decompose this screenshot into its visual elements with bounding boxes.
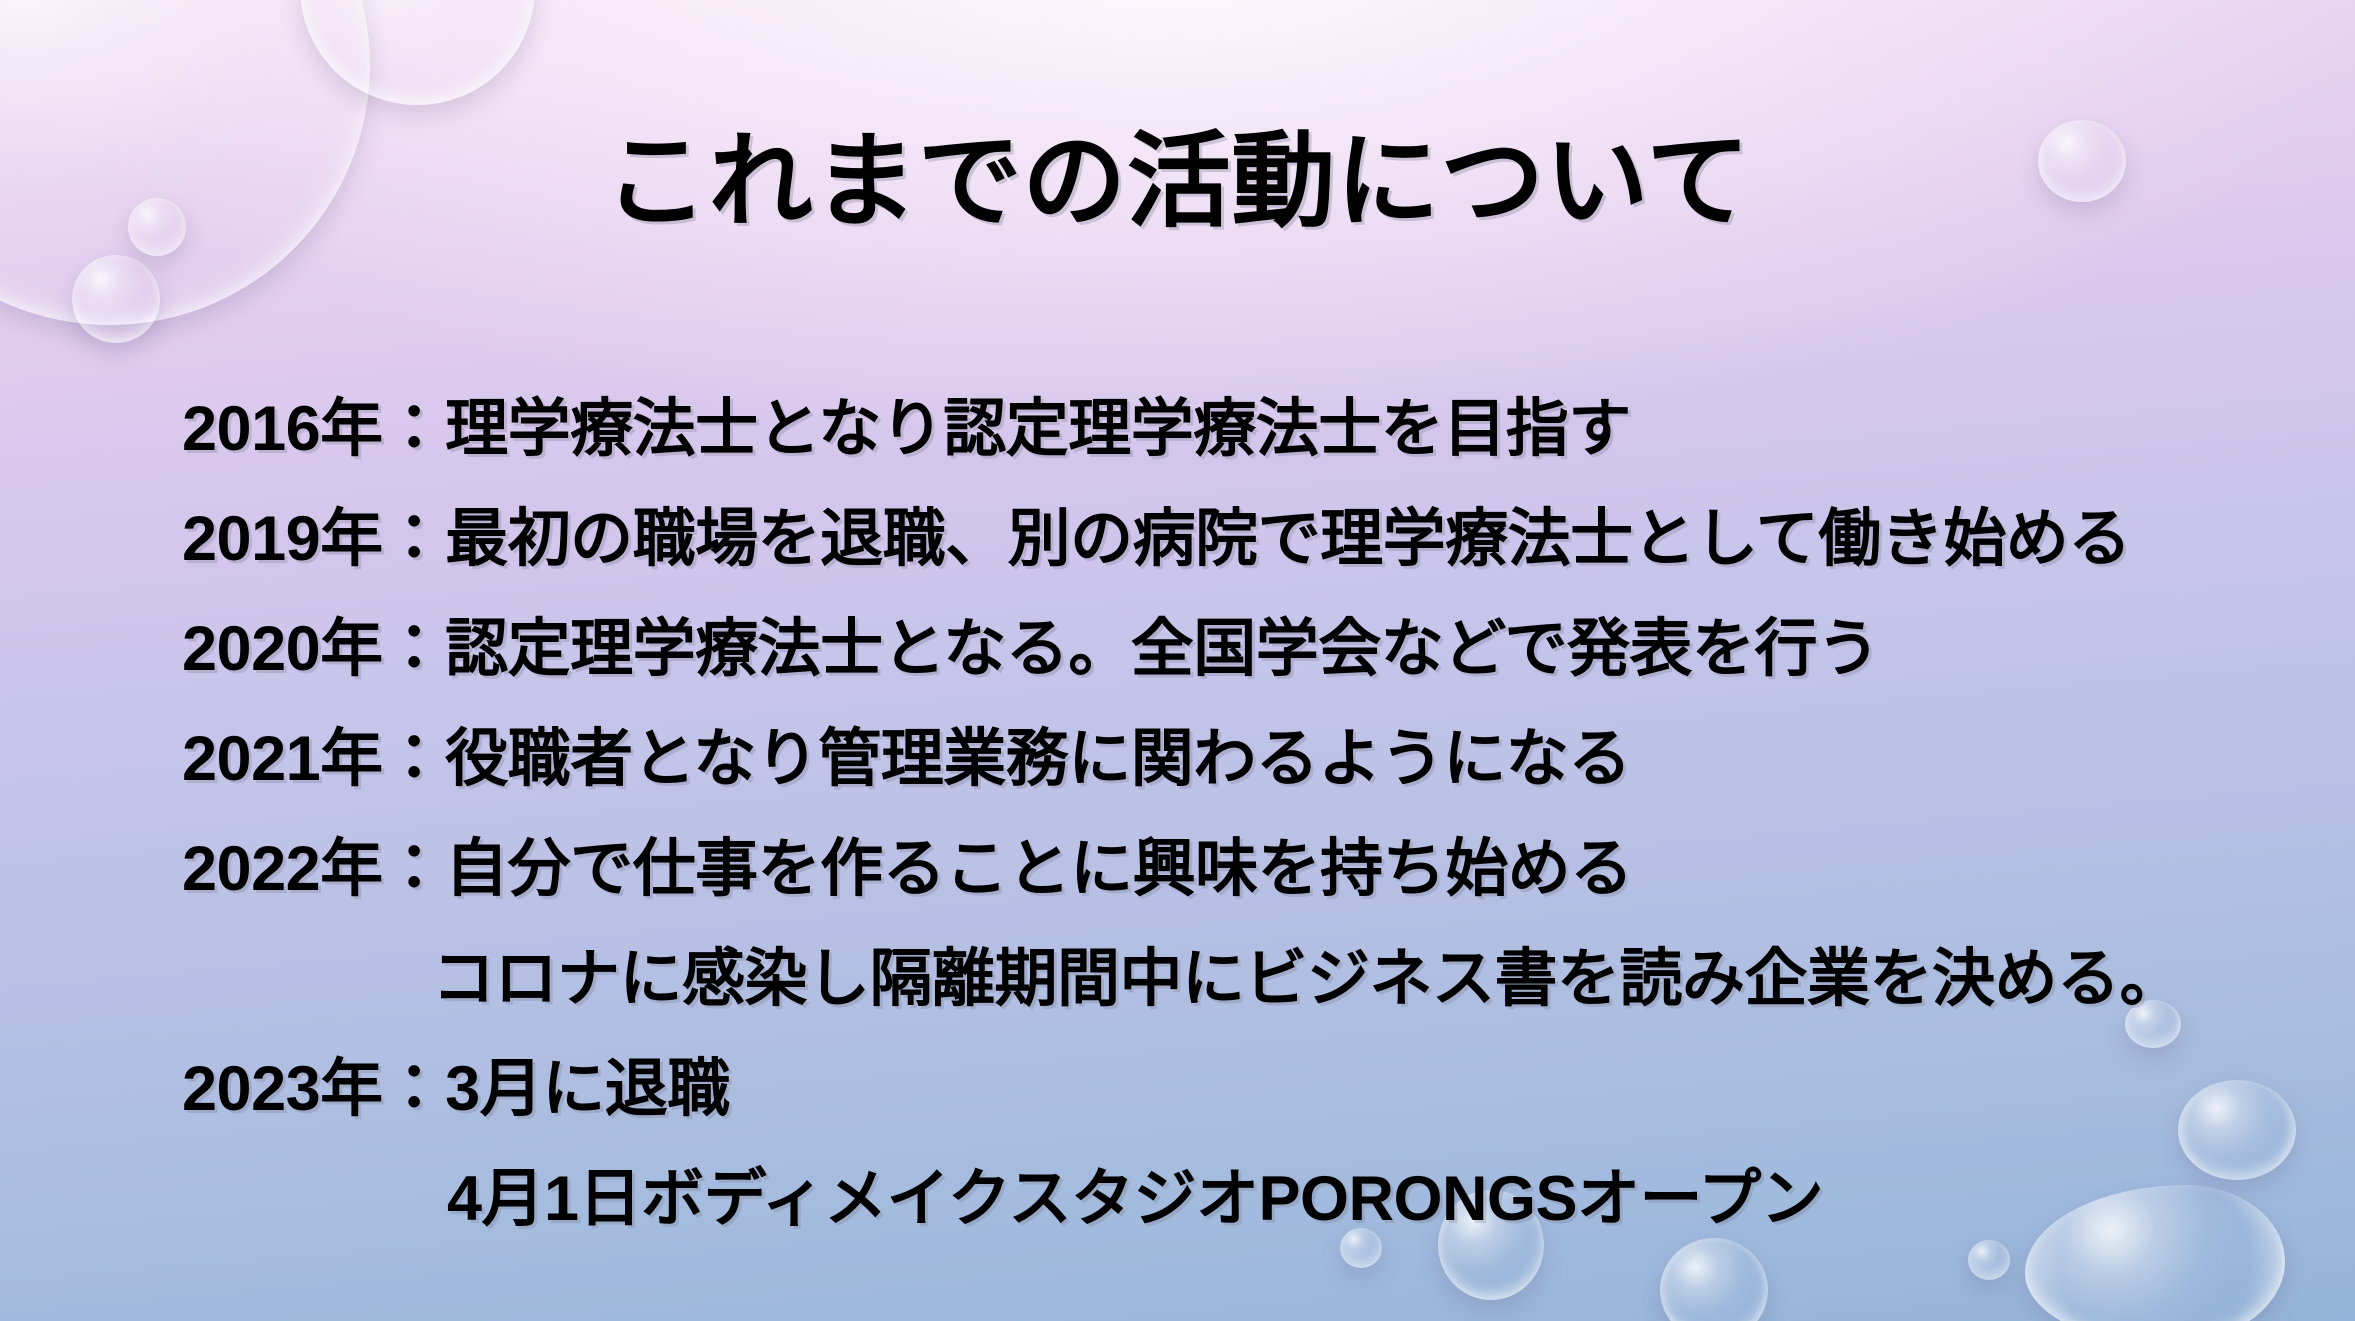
body-line: 2020年：認定理学療法士となる。全国学会などで発表を行う	[182, 594, 2242, 704]
bubble-small-top-left-2-icon	[72, 255, 160, 343]
body-line: 2016年：理学療法士となり認定理学療法士を目指す	[182, 374, 2242, 484]
body-line: コロナに感染し隔離期間中にビジネス書を読み企業を決める。	[182, 924, 2242, 1034]
presentation-slide: これまでの活動について 2016年：理学療法士となり認定理学療法士を目指す 20…	[0, 0, 2355, 1321]
body-line: 2022年：自分で仕事を作ることに興味を持ち始める	[182, 814, 2242, 924]
body-line: 2023年：3月に退職	[182, 1034, 2242, 1144]
body-line: 4月1日ボディメイクスタジオPORONGSオープン	[182, 1144, 2242, 1254]
slide-title: これまでの活動について	[0, 128, 2355, 237]
slide-body-list: 2016年：理学療法士となり認定理学療法士を目指す 2019年：最初の職場を退職…	[182, 374, 2242, 1254]
bubble-medium-top-left-2-icon	[300, 0, 535, 105]
body-line: 2021年：役職者となり管理業務に関わるようになる	[182, 704, 2242, 814]
body-line: 2019年：最初の職場を退職、別の病院で理学療法士として働き始める	[182, 484, 2242, 594]
